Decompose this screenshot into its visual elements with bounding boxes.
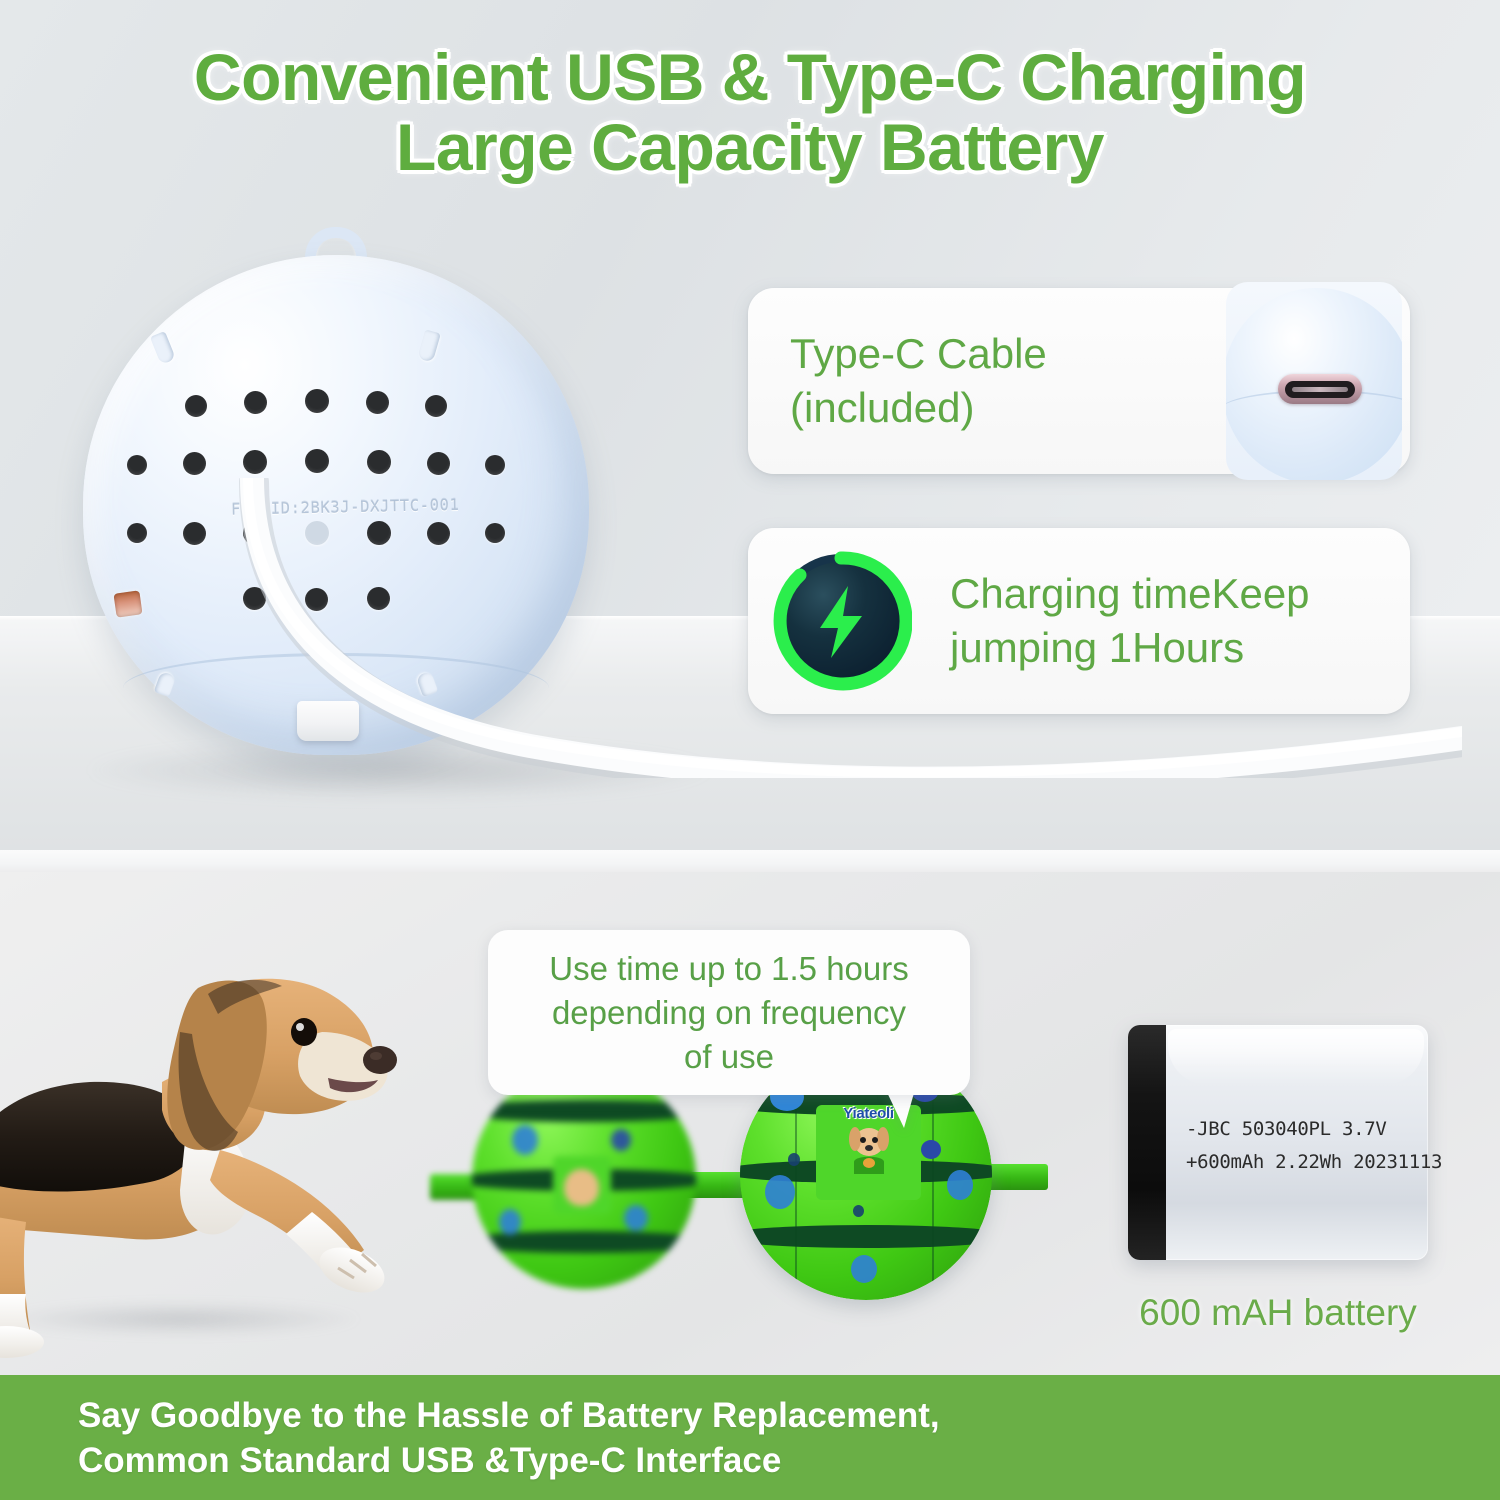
callout-type-c-cable[interactable]: Type-C Cable (included)	[748, 288, 1410, 474]
paw-print	[624, 1205, 648, 1231]
callout-type-c-text: Type-C Cable (included)	[790, 327, 1047, 435]
vent-hole	[305, 449, 329, 473]
bottom-banner: Say Goodbye to the Hassle of Battery Rep…	[0, 1375, 1500, 1500]
vent-hole	[367, 450, 391, 474]
toy-stripe	[472, 1100, 696, 1122]
vent-hole	[485, 455, 505, 475]
bubble-line-2: depending on frequency	[549, 991, 909, 1035]
toy-ball-left	[472, 1067, 696, 1289]
callout-charging-line2: jumping 1Hours	[950, 621, 1310, 675]
usb-c-port-icon	[1226, 282, 1402, 480]
battery-label-line-1: -JBC 503040PL 3.7V	[1186, 1113, 1426, 1146]
beagle-dog-image	[0, 882, 452, 1362]
toy-stripe	[472, 1231, 696, 1253]
bubble-line-1: Use time up to 1.5 hours	[549, 947, 909, 991]
vent-hole	[243, 450, 267, 474]
toy-dog-graphic-right	[838, 1122, 900, 1176]
vent-hole	[185, 395, 207, 417]
callout-charging-text: Charging timeKeep jumping 1Hours	[950, 567, 1310, 675]
vent-hole	[427, 452, 450, 475]
vent-hole	[183, 452, 206, 475]
callout-type-c-line1: Type-C Cable	[790, 327, 1047, 381]
vent-hole	[127, 523, 147, 543]
paw-print-small	[788, 1153, 800, 1166]
paw-print	[765, 1175, 795, 1209]
usb-c-port-tongue	[1292, 387, 1348, 392]
power-button-slot[interactable]	[113, 590, 142, 617]
toy-stripe	[740, 1225, 992, 1248]
battery-gloss	[1168, 1029, 1424, 1085]
callout-charging-time[interactable]: Charging timeKeep jumping 1Hours	[748, 528, 1410, 714]
paw-print	[512, 1125, 538, 1155]
charging-bolt-icon	[770, 550, 912, 692]
paw-print	[499, 1209, 521, 1235]
vent-hole	[425, 395, 447, 417]
callout-type-c-line2: (included)	[790, 381, 1047, 435]
vent-hole	[366, 391, 389, 414]
battery-black-edge	[1128, 1025, 1166, 1260]
battery-caption: 600 mAH battery	[1078, 1292, 1478, 1334]
banner-line-1: Say Goodbye to the Hassle of Battery Rep…	[0, 1393, 1500, 1438]
battery-label: -JBC 503040PL 3.7V +600mAh 2.22Wh 202311…	[1186, 1113, 1426, 1179]
infographic-page: FCC ID:2BK3J-DXJTTC-001 Type-C Cable (in…	[0, 0, 1500, 1500]
vent-hole	[183, 522, 206, 545]
panel-divider	[0, 850, 1500, 872]
paw-print	[947, 1170, 973, 1200]
use-time-bubble-text: Use time up to 1.5 hours depending on fr…	[549, 947, 909, 1079]
usb-c-port-opening	[1278, 374, 1362, 404]
usb-c-port-cavity	[1285, 381, 1355, 398]
paw-print	[851, 1255, 877, 1283]
paw-print	[611, 1129, 631, 1151]
use-time-bubble: Use time up to 1.5 hours depending on fr…	[488, 930, 970, 1095]
lithium-battery-image: -JBC 503040PL 3.7V +600mAh 2.22Wh 202311…	[1128, 1025, 1428, 1260]
vent-hole	[244, 391, 267, 414]
toy-dog-graphic-left	[553, 1156, 611, 1214]
vent-hole	[127, 455, 147, 475]
battery-label-line-2: +600mAh 2.22Wh 20231113	[1186, 1146, 1426, 1179]
callout-charging-line1: Charging timeKeep	[950, 567, 1310, 621]
top-panel: FCC ID:2BK3J-DXJTTC-001 Type-C Cable (in…	[0, 0, 1500, 850]
banner-line-2: Common Standard USB &Type-C Interface	[0, 1438, 1500, 1483]
vent-hole	[305, 389, 329, 413]
bubble-line-3: of use	[549, 1035, 909, 1079]
